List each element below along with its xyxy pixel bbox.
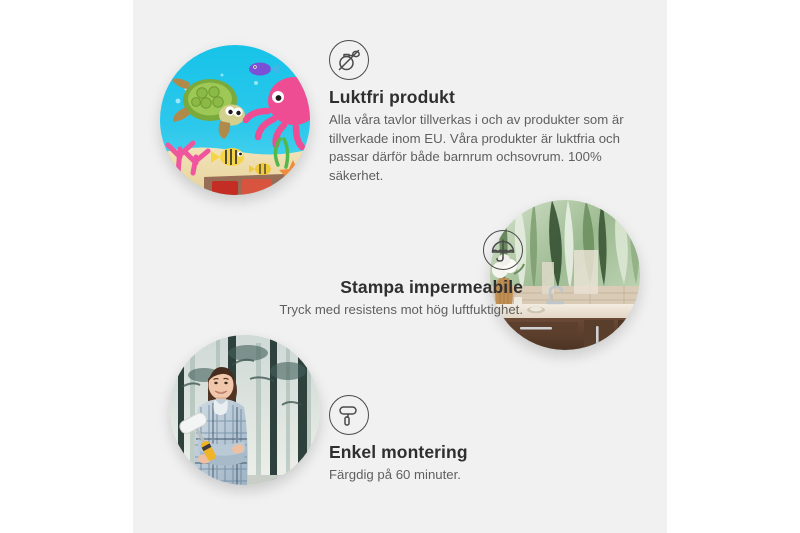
content-panel: Luktfri produkt Alla våra tavlor tillver… [133, 0, 667, 533]
feature-assembly: Enkel montering Färgdig på 60 minuter. [329, 395, 629, 485]
promo-graphic: Luktfri produkt Alla våra tavlor tillver… [0, 0, 800, 533]
feature-title: Enkel montering [329, 442, 629, 463]
woman-paint-roller-forest-photo [170, 335, 320, 485]
paint-roller-icon [329, 395, 369, 435]
feature-body: Alla våra tavlor tillverkas i och av pro… [329, 111, 629, 186]
feature-body: Tryck med resistens mot hög luftfuktighe… [193, 301, 523, 320]
feature-odourless: Luktfri produkt Alla våra tavlor tillver… [329, 40, 629, 186]
no-fragrance-icon [329, 40, 369, 80]
feature-body: Färgdig på 60 minuter. [329, 466, 629, 485]
underwater-cartoon-mural-photo [160, 45, 310, 195]
feature-title: Stampa impermeabile [193, 277, 523, 298]
umbrella-icon [483, 230, 523, 270]
feature-waterproof: Stampa impermeabile Tryck med resistens … [193, 230, 523, 320]
feature-title: Luktfri produkt [329, 87, 629, 108]
